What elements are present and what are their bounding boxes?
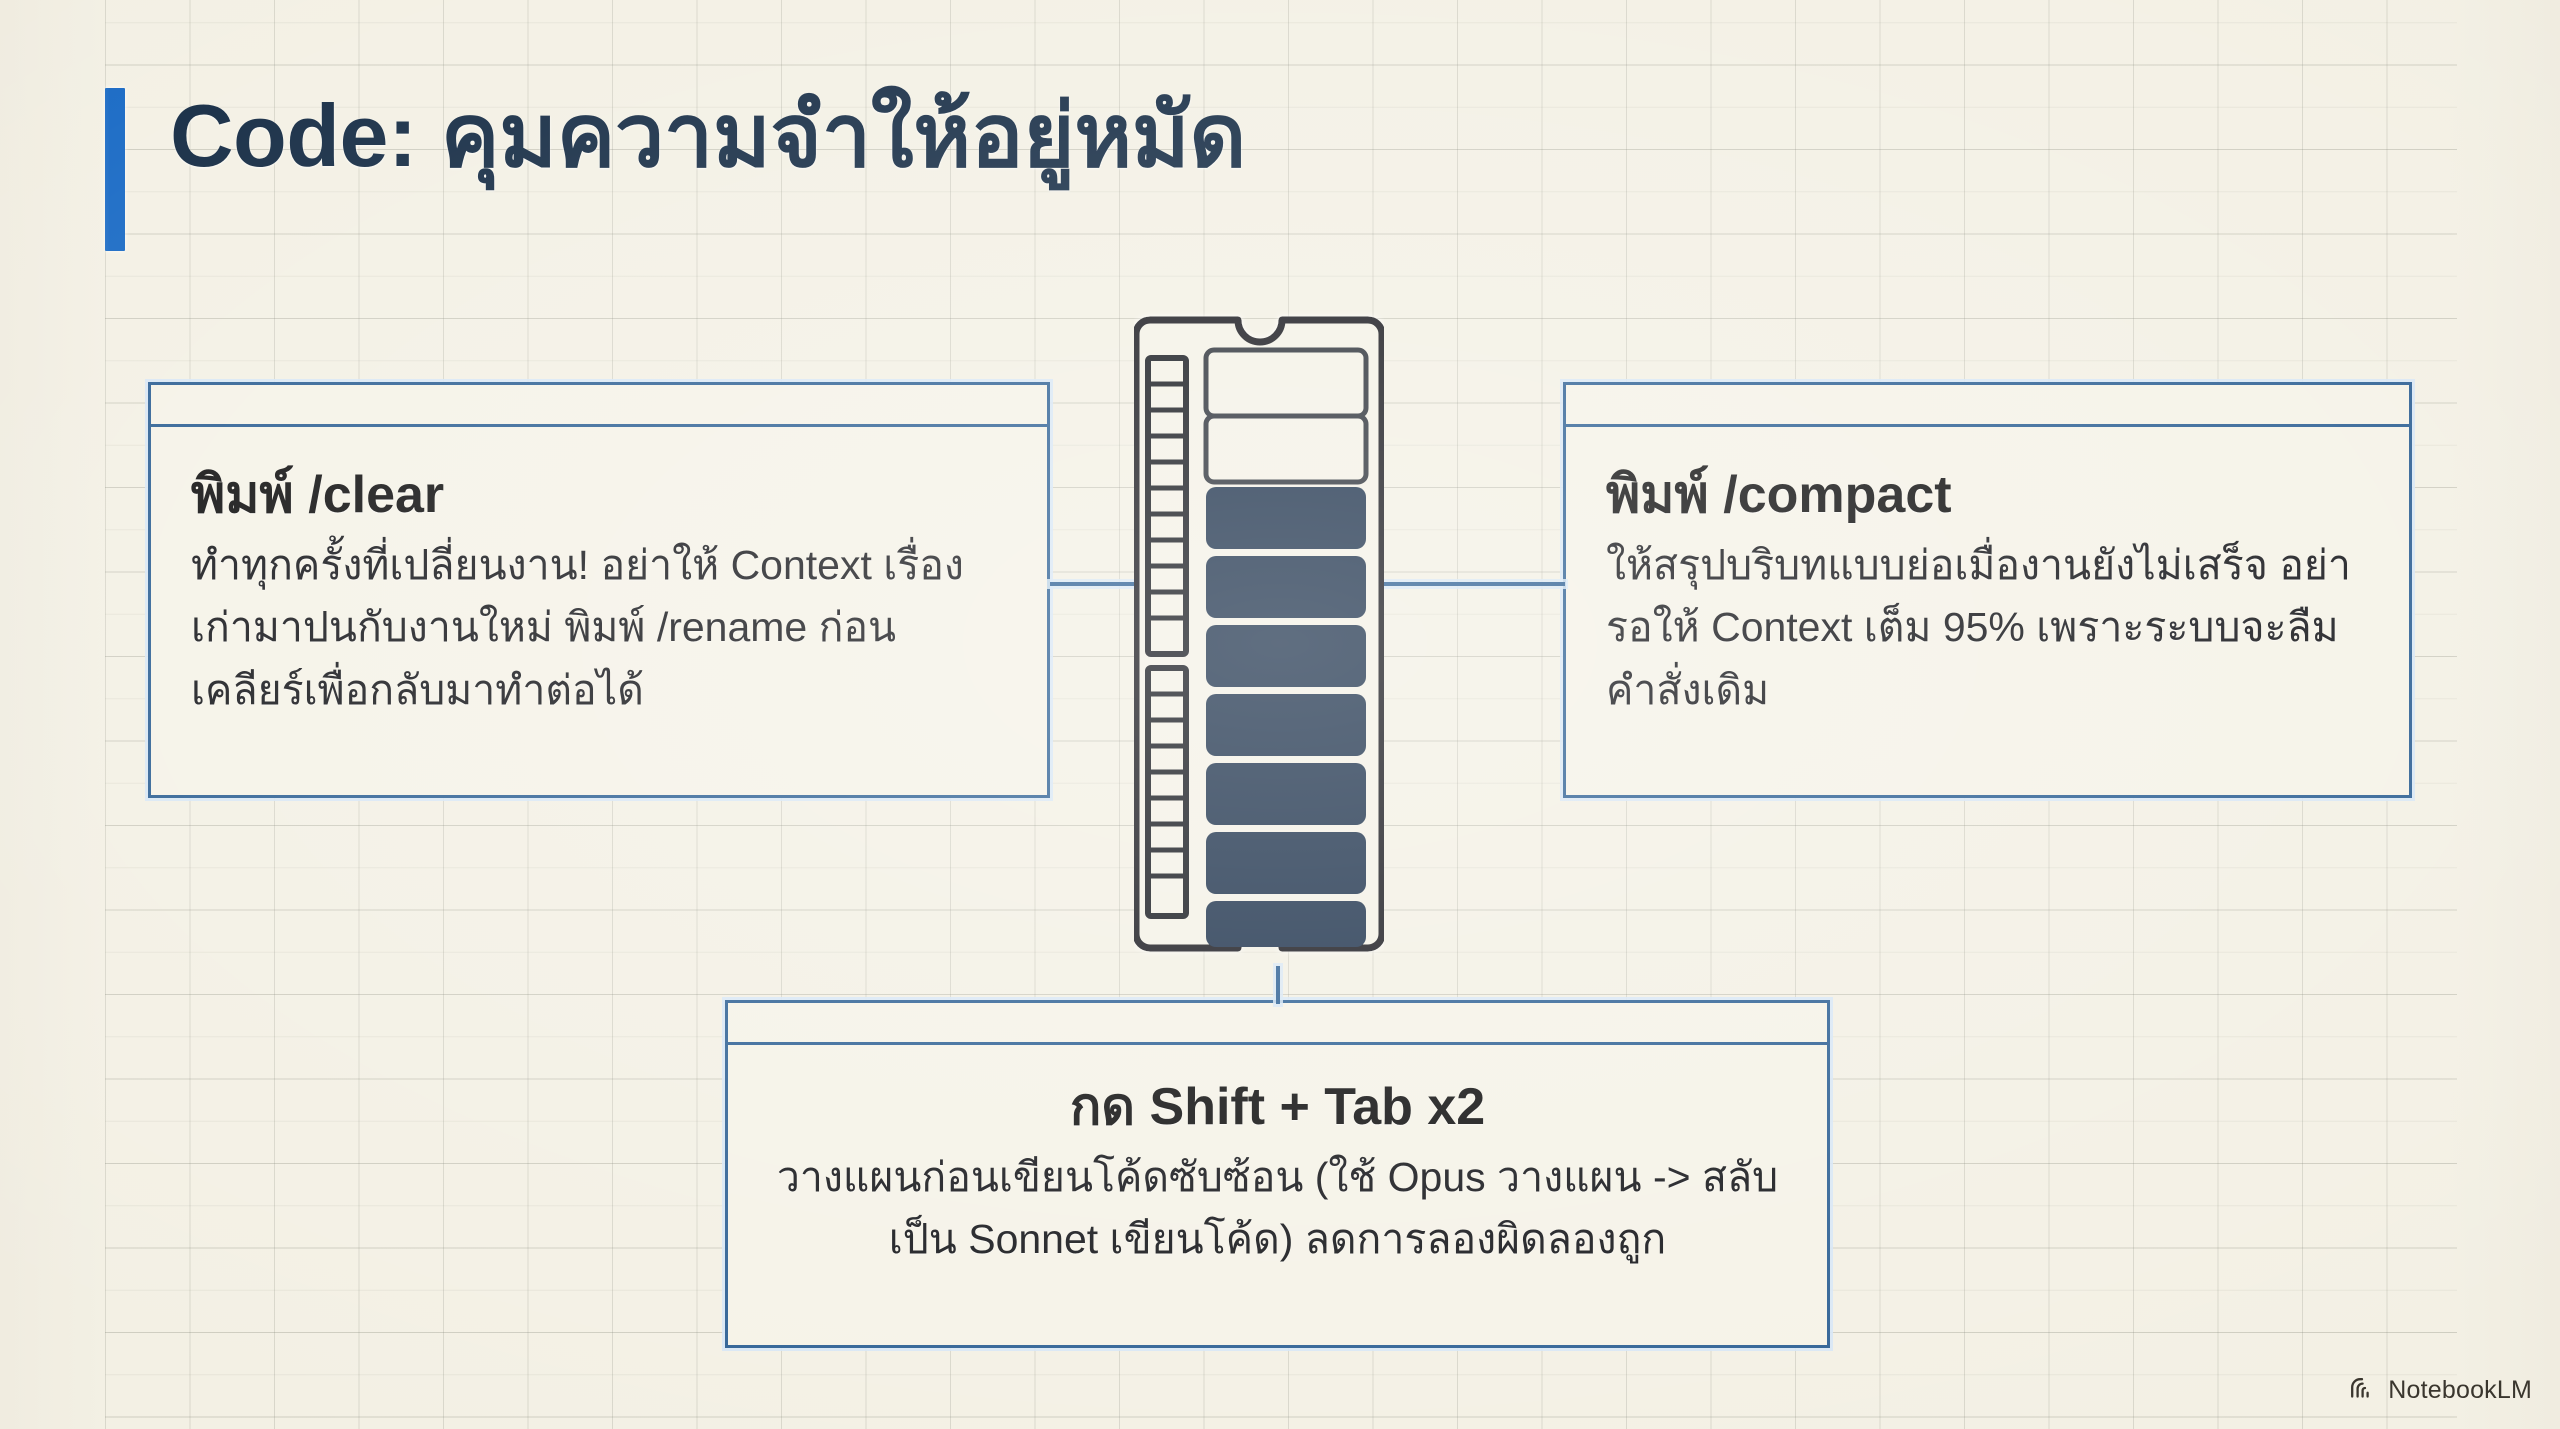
card-shift-tab: กด Shift + Tab x2 วางแผนก่อนเขียนโค้ดซับ… bbox=[725, 1000, 1830, 1348]
card-shift-tab-title: กด Shift + Tab x2 bbox=[768, 1075, 1787, 1140]
card-compact-text: ให้สรุปบริบทแบบย่อเมื่องานยังไม่เสร็จ อย… bbox=[1606, 534, 2369, 721]
connector-module-to-compact bbox=[1383, 582, 1565, 586]
contact-pins-upper bbox=[1148, 358, 1186, 654]
card-shift-tab-header-strip bbox=[728, 1003, 1827, 1045]
memory-slots bbox=[1206, 350, 1366, 947]
memory-slot-empty-1 bbox=[1206, 350, 1366, 416]
memory-slot-filled-2 bbox=[1206, 556, 1366, 618]
memory-slot-filled-7 bbox=[1206, 901, 1366, 947]
slide-canvas: Code: คุมความจำให้อยู่หมัด พิมพ์ /clear … bbox=[0, 0, 2560, 1429]
card-compact-header-strip bbox=[1566, 385, 2409, 427]
card-clear-body: พิมพ์ /clear ทำทุกครั้งที่เปลี่ยนงาน! อย… bbox=[151, 427, 1047, 739]
connector-module-to-shift-tab bbox=[1276, 966, 1280, 1004]
page-title: Code: คุมความจำให้อยู่หมัด bbox=[170, 88, 1246, 183]
contact-pins-lower bbox=[1148, 668, 1186, 916]
card-compact: พิมพ์ /compact ให้สรุปบริบทแบบย่อเมื่องา… bbox=[1563, 382, 2412, 798]
memory-slot-filled-6 bbox=[1206, 832, 1366, 894]
memory-slot-filled-5 bbox=[1206, 763, 1366, 825]
card-compact-title: พิมพ์ /compact bbox=[1606, 463, 2369, 528]
card-clear: พิมพ์ /clear ทำทุกครั้งที่เปลี่ยนงาน! อย… bbox=[148, 382, 1050, 798]
card-clear-text: ทำทุกครั้งที่เปลี่ยนงาน! อย่าให้ Context… bbox=[191, 534, 1007, 721]
card-shift-tab-text: วางแผนก่อนเขียนโค้ดซับซ้อน (ใช้ Opus วาง… bbox=[768, 1146, 1787, 1271]
memory-slot-filled-4 bbox=[1206, 694, 1366, 756]
connector-clear-to-module bbox=[1050, 582, 1136, 586]
card-clear-header-strip bbox=[151, 385, 1047, 427]
card-clear-title: พิมพ์ /clear bbox=[191, 463, 1007, 528]
memory-slot-filled-1 bbox=[1206, 487, 1366, 549]
title-accent-bar bbox=[105, 88, 125, 251]
notebooklm-wordmark: NotebookLM bbox=[2388, 1376, 2532, 1405]
memory-slot-filled-3 bbox=[1206, 625, 1366, 687]
memory-module-svg bbox=[1134, 300, 1384, 968]
memory-module-illustration bbox=[1134, 300, 1384, 968]
card-shift-tab-body: กด Shift + Tab x2 วางแผนก่อนเขียนโค้ดซับ… bbox=[728, 1045, 1827, 1285]
notebooklm-spiral-icon bbox=[2349, 1376, 2377, 1405]
memory-slot-empty-2 bbox=[1206, 416, 1366, 482]
card-compact-body: พิมพ์ /compact ให้สรุปบริบทแบบย่อเมื่องา… bbox=[1566, 427, 2409, 739]
notebooklm-logo: NotebookLM bbox=[2349, 1376, 2532, 1405]
